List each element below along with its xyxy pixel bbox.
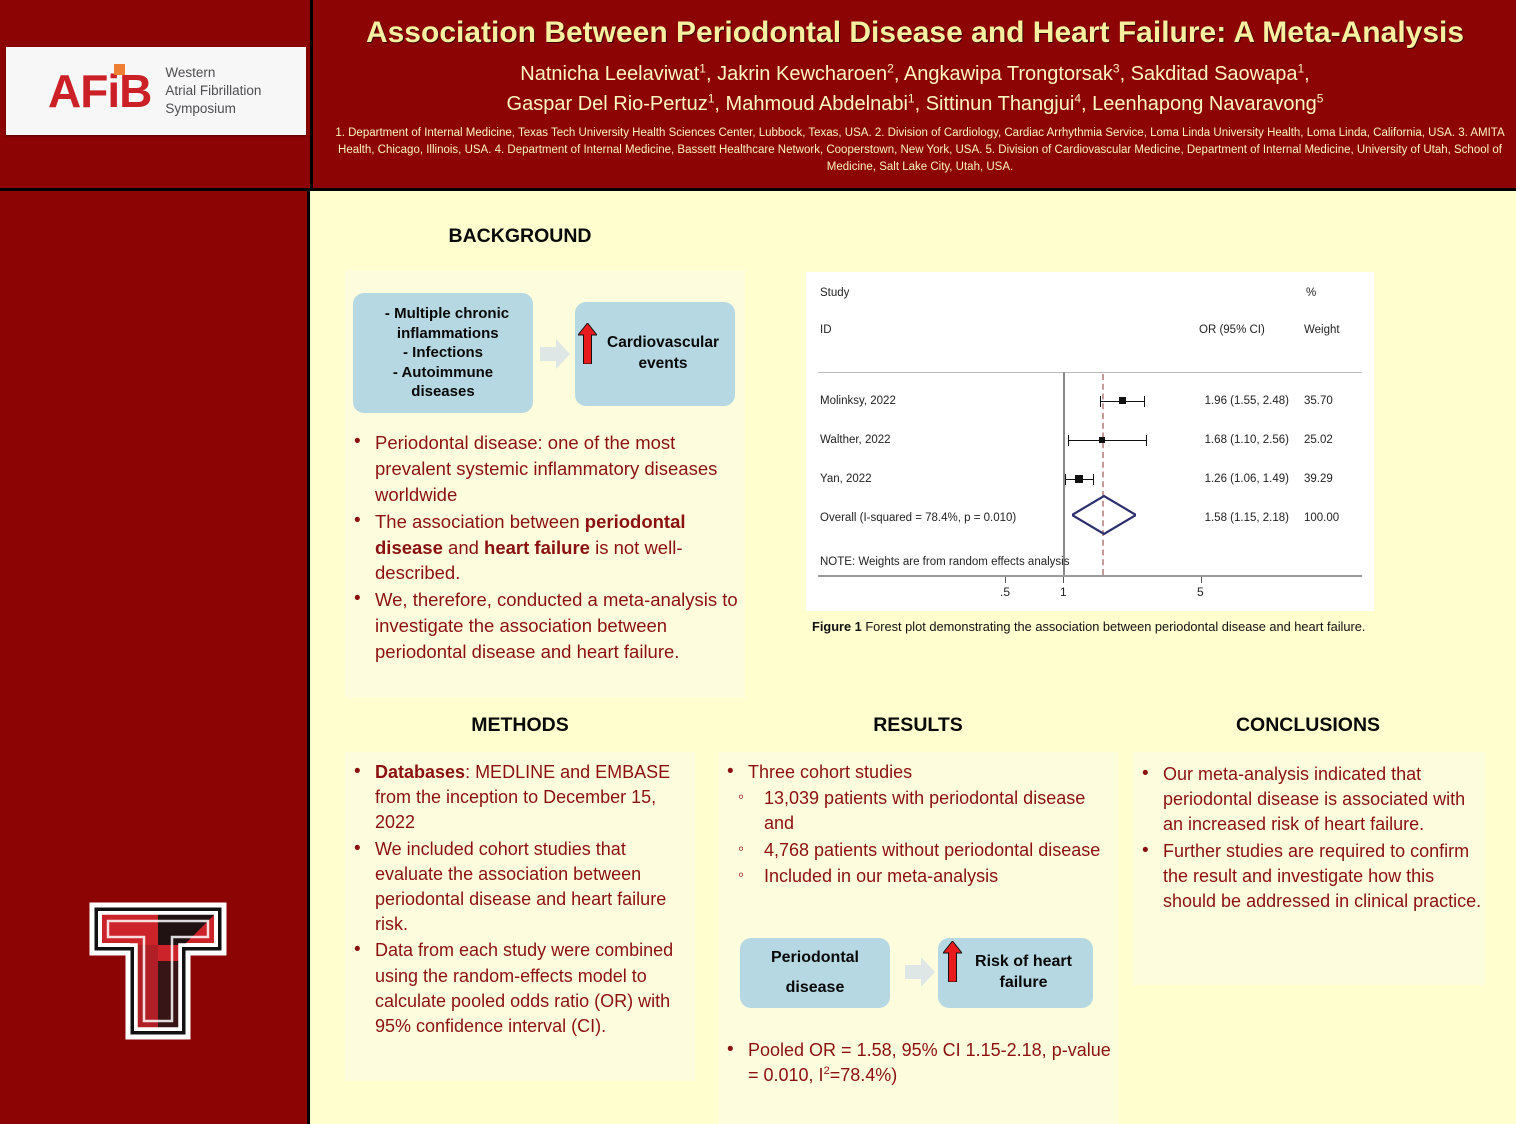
page-title: Association Between Periodontal Disease …: [320, 16, 1510, 50]
list-item: Databases: MEDLINE and EMBASE from the i…: [349, 760, 693, 836]
section-heading-methods: METHODS: [345, 714, 695, 737]
forest-overall-diamond: [1072, 494, 1136, 536]
forest-weight-value: 35.70: [1304, 395, 1333, 407]
section-heading-results: RESULTS: [718, 714, 1118, 737]
section-heading-conclusions: CONCLUSIONS: [1133, 714, 1483, 737]
results-bullet-list: Three cohort studies 13,039 patients wit…: [722, 760, 1118, 890]
forest-ci-cap-left: [1100, 396, 1101, 407]
flowbox-periodontal-disease: Periodontal disease: [740, 938, 890, 1008]
list-item: We included cohort studies that evaluate…: [349, 837, 693, 938]
afib-logo-text: AFiB: [48, 65, 151, 117]
forest-or-value: 1.26 (1.06, 1.49): [1189, 473, 1289, 485]
forest-ci-line: [1068, 440, 1147, 441]
forest-or-value: 1.68 (1.10, 2.56): [1189, 434, 1289, 446]
flowbox-line-1: - Multiple chronic: [377, 304, 509, 324]
forest-col-study: Study: [820, 287, 849, 299]
forest-col-id: ID: [820, 324, 832, 336]
flowbox-line-3: - Infections: [377, 343, 509, 363]
right-arrow-icon: [905, 955, 935, 989]
list-item: Pooled OR = 1.58, 95% CI 1.15-2.18, p-va…: [722, 1038, 1118, 1088]
forest-col-or: OR (95% CI): [1199, 324, 1265, 336]
forest-xtick: [1201, 577, 1202, 583]
forest-note: NOTE: Weights are from random effects an…: [820, 556, 1069, 568]
figure-caption-text: Forest plot demonstrating the associatio…: [865, 619, 1365, 634]
right-arrow-icon: [540, 337, 570, 371]
forest-xtick-label: 1: [1060, 585, 1067, 599]
forest-row-label: Walther, 2022: [820, 434, 891, 446]
list-item: Data from each study were combined using…: [349, 938, 693, 1039]
header-divider: [310, 0, 313, 191]
afib-symposium-logo: AFiB Western Atrial Fibrillation Symposi…: [6, 47, 306, 135]
forest-overall-label: Overall (I-squared = 78.4%, p = 0.010): [820, 512, 1016, 524]
list-item: We, therefore, conducted a meta-analysis…: [349, 587, 744, 665]
forest-point-estimate: [1075, 475, 1083, 483]
figure-caption-label: Figure 1: [812, 619, 862, 634]
forest-or-value: 1.96 (1.55, 2.48): [1189, 395, 1289, 407]
afib-logo-line3: Symposium: [165, 100, 261, 118]
afib-logo-orange-dot-icon: [114, 64, 125, 75]
up-arrow-increase-icon: [578, 323, 597, 364]
figure-caption: Figure 1 Forest plot demonstrating the a…: [812, 618, 1372, 636]
forest-ci-cap-left: [1068, 435, 1069, 446]
background-bullet-list: Periodontal disease: one of the most pre…: [349, 430, 744, 666]
afib-logo-line2: Atrial Fibrillation: [165, 82, 261, 100]
flowbox-cardiovascular-events: Cardiovascular events: [575, 302, 735, 406]
forest-weight-value: 25.02: [1304, 434, 1333, 446]
author-list: Natnicha Leelaviwat1, Jakrin Kewcharoen2…: [320, 60, 1510, 119]
conclusions-bullet-list: Our meta-analysis indicated that periodo…: [1137, 762, 1483, 915]
forest-point-estimate: [1099, 437, 1105, 443]
author-line-2: Gaspar Del Rio-Pertuz1, Mahmoud Abdelnab…: [320, 90, 1510, 120]
up-arrow-increase-icon: [943, 941, 962, 982]
list-item: Our meta-analysis indicated that periodo…: [1137, 762, 1483, 838]
poster-header: AFiB Western Atrial Fibrillation Symposi…: [0, 0, 1516, 191]
texas-tech-double-t-logo-icon: [68, 891, 248, 1051]
list-item: Three cohort studies: [722, 760, 1118, 785]
flowbox-pd-label: Periodontal disease: [740, 943, 890, 1004]
forest-xtick-label: 5: [1197, 585, 1204, 599]
methods-bullet-list: Databases: MEDLINE and EMBASE from the i…: [349, 760, 693, 1040]
list-item: Further studies are required to confirm …: [1137, 839, 1483, 915]
flowbox-line-5: diseases: [377, 382, 509, 402]
forest-row-label: Yan, 2022: [820, 473, 872, 485]
forest-row-label: Molinksy, 2022: [820, 395, 896, 407]
left-sidebar: [0, 191, 310, 1124]
afib-logo-line1: Western: [165, 64, 261, 82]
list-item: The association between periodontal dise…: [349, 509, 744, 587]
list-item: Included in our meta-analysis: [722, 864, 1118, 889]
forest-ci-cap-right: [1093, 474, 1094, 485]
forest-xtick-label: .5: [1000, 585, 1010, 599]
afib-logo-wordmark: AFiB: [48, 68, 151, 114]
flowbox-line-2: inflammations: [377, 324, 509, 344]
flowbox-line-4: - Autoimmune: [377, 363, 509, 383]
flowbox-chronic-inflammations: - Multiple chronic inflammations - Infec…: [353, 293, 533, 413]
afib-logo-subtext: Western Atrial Fibrillation Symposium: [165, 64, 261, 117]
flowbox-cv-label: Cardiovascular events: [575, 333, 735, 375]
forest-ci-cap-right: [1144, 396, 1145, 407]
author-line-1: Natnicha Leelaviwat1, Jakrin Kewcharoen2…: [320, 60, 1510, 90]
forest-xtick: [1005, 577, 1006, 583]
list-item: Periodontal disease: one of the most pre…: [349, 430, 744, 508]
forest-overall-or: 1.58 (1.15, 2.18): [1189, 512, 1289, 524]
forest-ci-cap-left: [1065, 474, 1066, 485]
results-pooled-statement: Pooled OR = 1.58, 95% CI 1.15-2.18, p-va…: [722, 1038, 1118, 1089]
forest-x-axis: [818, 575, 1362, 577]
forest-pooled-line: [1102, 374, 1104, 575]
affiliations: 1. Department of Internal Medicine, Texa…: [330, 125, 1510, 175]
forest-col-weight: Weight: [1304, 324, 1340, 336]
forest-top-rule: [818, 372, 1362, 373]
forest-overall-weight: 100.00: [1304, 512, 1339, 524]
forest-col-percent: %: [1306, 287, 1316, 299]
list-item: 13,039 patients with periodontal disease…: [722, 786, 1118, 836]
list-item: 4,768 patients without periodontal disea…: [722, 838, 1118, 863]
forest-ci-cap-right: [1146, 435, 1147, 446]
forest-xtick: [1063, 577, 1064, 583]
forest-point-estimate: [1119, 397, 1126, 404]
forest-weight-value: 39.29: [1304, 473, 1333, 485]
poster-root: AFiB Western Atrial Fibrillation Symposi…: [0, 0, 1516, 1124]
section-heading-background: BACKGROUND: [345, 225, 695, 248]
forest-plot-figure: Study % ID OR (95% CI) Weight Molinksy, …: [806, 272, 1374, 611]
